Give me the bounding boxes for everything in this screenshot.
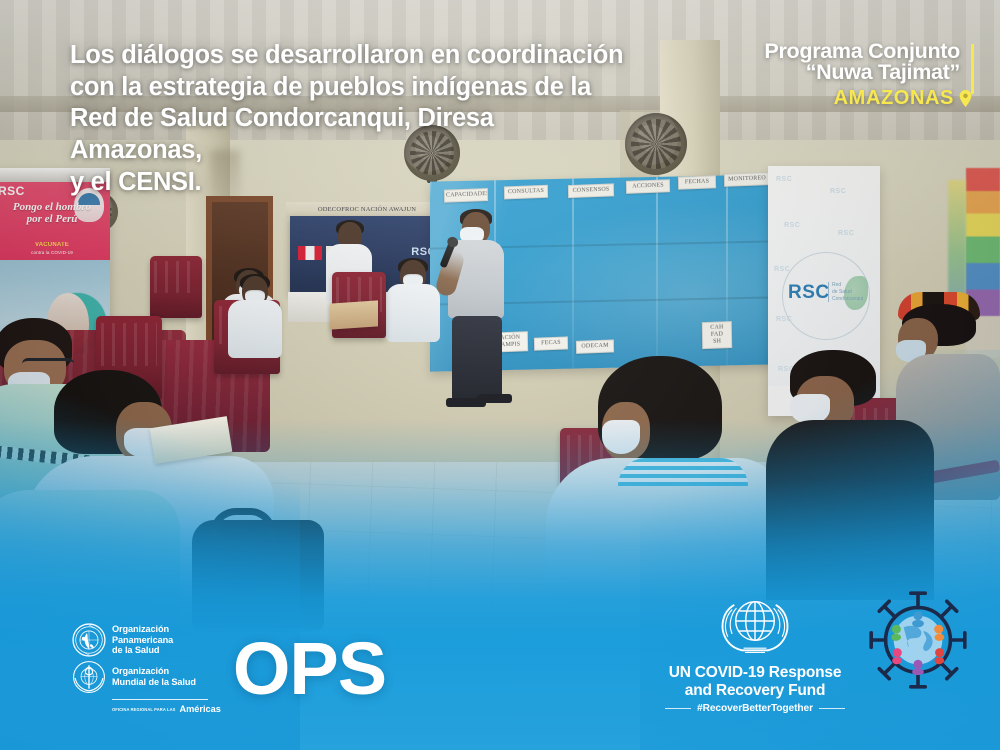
region-text: AMAZONAS [834, 87, 954, 110]
backpack-handle [210, 508, 276, 539]
tarp-card-label: FECAS [534, 336, 568, 350]
un-hashtag-row: #RecoverBetterTogether [660, 703, 850, 714]
un-fund-logo-block: UN COVID-19 Response and Recovery Fund #… [660, 591, 850, 714]
paho-americas: Américas [179, 704, 220, 714]
face-mask-icon [602, 420, 640, 454]
paho-americas-row: OFICINA REGIONAL PARA LAS Américas [112, 704, 221, 714]
program-name-line2: “Nuwa Tajimat” [698, 61, 978, 84]
covid-globe-icon [864, 586, 972, 694]
speaker-legs [452, 316, 502, 400]
rsc-logo-subtitle: Red de Salud Condorcanqui [828, 282, 863, 302]
region-label: AMAZONAS [698, 87, 978, 110]
peru-flag-icon [298, 246, 322, 260]
participant-torso [766, 420, 934, 600]
paho-office-line: OFICINA REGIONAL PARA LAS [112, 707, 175, 712]
banner-subtitle-2: contra la COVID-19 [0, 250, 110, 255]
paho-emblem-icon [72, 623, 106, 657]
brand-accent-bar [971, 44, 974, 94]
hashtag-rule-right [819, 708, 845, 709]
polo-collar [618, 458, 748, 486]
seated-participant [228, 274, 284, 366]
paho-logo-block: Organización Panamericana de la Salud Or… [72, 623, 386, 714]
tarp-card-label: CAH FAD SH [702, 321, 732, 349]
tarp-card-label: FECHAS [678, 175, 716, 189]
banner-title: Pongo el hombro por el Perú [0, 202, 108, 225]
foreground-participant [760, 350, 940, 610]
rsc-logo-small: RSC [0, 184, 25, 198]
paho-org-name: Organización Panamericana de la Salud [112, 624, 173, 656]
tarp-card-label: MONITOREO [724, 172, 770, 187]
speaker-shoe [476, 394, 512, 403]
headline-text: Los diálogos se desarrollaron en coordin… [70, 40, 630, 199]
fan-cage [625, 113, 687, 175]
seated-participant [386, 258, 436, 344]
paho-org-logos: Organización Panamericana de la Salud Or… [72, 623, 221, 714]
banner-subtitle: VACUNATE [0, 242, 110, 248]
tarp-card-label: ACCIONES [626, 179, 670, 194]
wall-fan-icon [625, 113, 687, 175]
un-hashtag: #RecoverBetterTogether [697, 703, 813, 714]
paho-row: Organización Panamericana de la Salud [72, 623, 221, 657]
social-media-card: RSC Pongo el hombro por el Perú VACUNATE… [0, 0, 1000, 750]
un-emblem-icon [712, 591, 798, 661]
paho-divider [112, 699, 208, 700]
speaker-presenter [440, 212, 514, 412]
rsc-logo: RSC [788, 282, 830, 304]
plastic-chair [150, 256, 202, 318]
un-fund-title: UN COVID-19 Response and Recovery Fund [660, 664, 850, 699]
who-row: Organización Mundial de la Salud [72, 660, 221, 694]
program-brand-lockup: Programa Conjunto “Nuwa Tajimat” AMAZONA… [698, 40, 978, 110]
hashtag-rule-left [665, 708, 691, 709]
cardboard-box [330, 300, 378, 329]
who-org-name: Organización Mundial de la Salud [112, 666, 196, 688]
ops-wordmark: OPS [233, 637, 386, 701]
who-emblem-icon [72, 660, 106, 694]
tarp-card-label: ODECAM [576, 339, 614, 353]
